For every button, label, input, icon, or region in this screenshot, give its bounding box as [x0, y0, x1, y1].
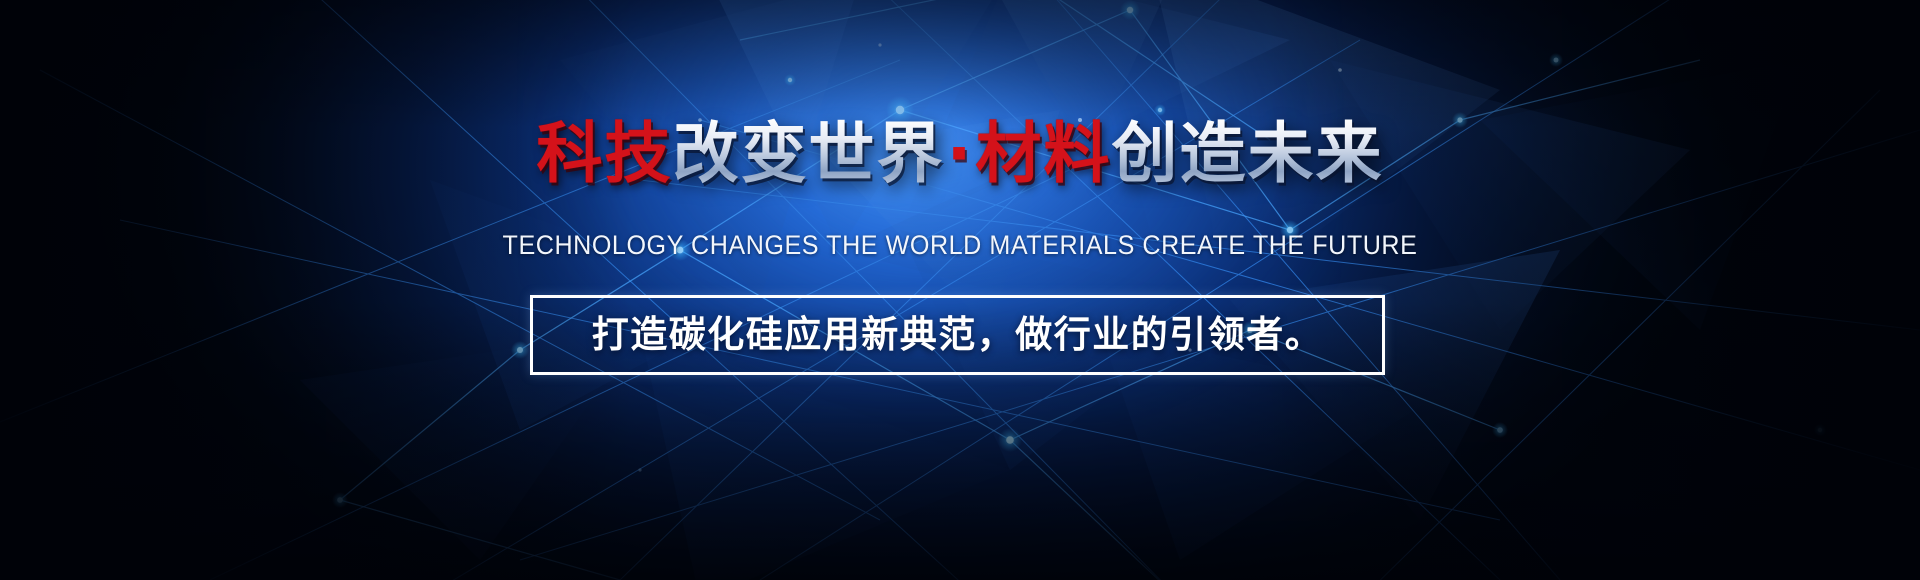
headline: 科技改变世界·材料创造未来 — [0, 118, 1920, 190]
headline-segment-2: 改变世界 — [672, 118, 944, 190]
slogan-box: 打造碳化硅应用新典范，做行业的引领者。 — [530, 295, 1385, 375]
english-subtitle: TECHNOLOGY CHANGES THE WORLD MATERIALS C… — [67, 228, 1853, 262]
hero-banner: 科技改变世界·材料创造未来 TECHNOLOGY CHANGES THE WOR… — [0, 0, 1920, 580]
headline-separator-dot: · — [944, 118, 975, 190]
slogan-text: 打造碳化硅应用新典范，做行业的引领者。 — [592, 313, 1324, 357]
headline-segment-1: 科技 — [536, 118, 672, 190]
banner-content: 科技改变世界·材料创造未来 TECHNOLOGY CHANGES THE WOR… — [0, 0, 1920, 580]
headline-segment-4: 创造未来 — [1112, 118, 1384, 190]
headline-segment-3: 材料 — [976, 118, 1112, 190]
